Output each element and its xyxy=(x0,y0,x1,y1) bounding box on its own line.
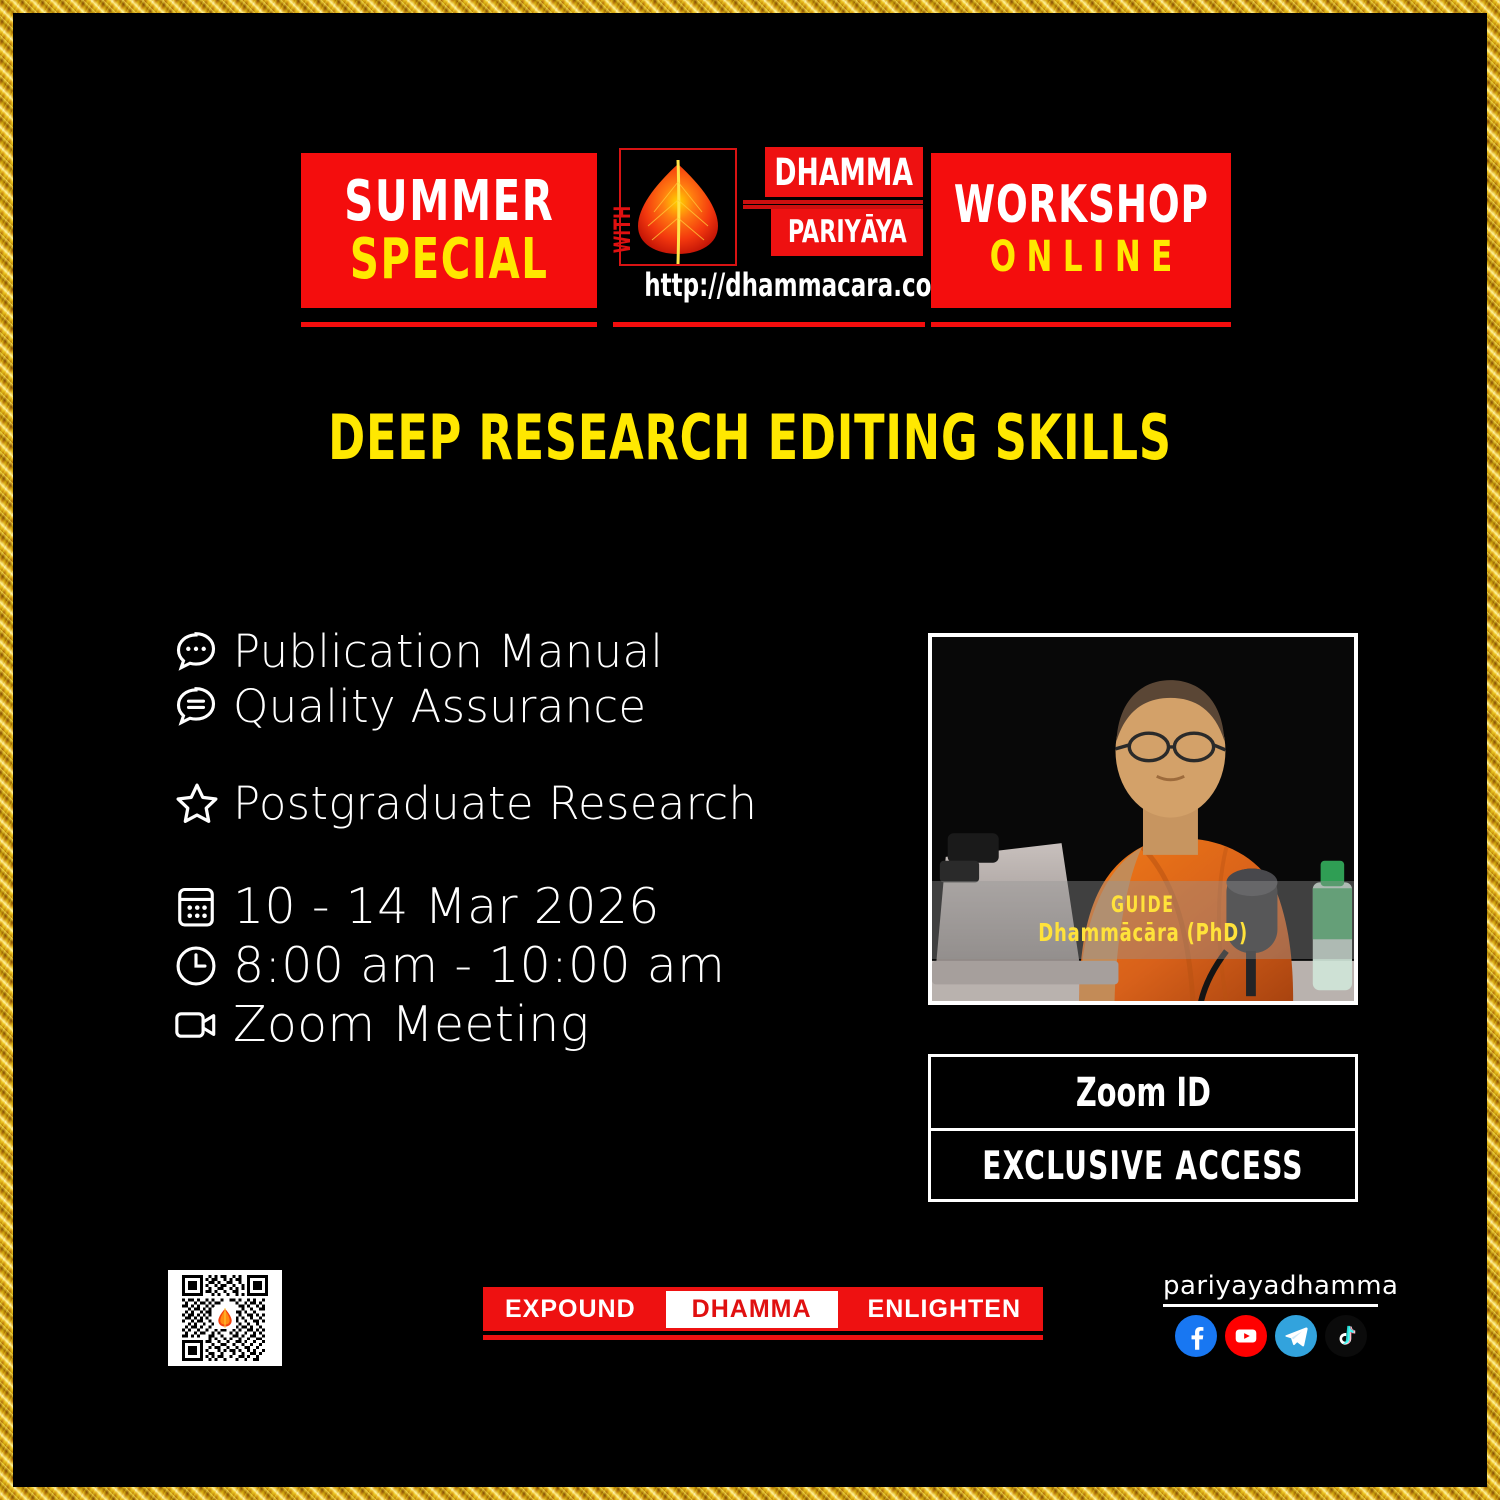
speaker-name: Dhammācāra (PhD) xyxy=(1038,918,1248,947)
social-block: pariyayadhamma xyxy=(1163,1271,1378,1357)
with-label: WITH xyxy=(612,205,637,252)
social-handle: pariyayadhamma xyxy=(1163,1271,1378,1301)
detail-label: 10 - 14 Mar 2026 xyxy=(233,878,660,935)
detail-item-platform: Zoom Meeting xyxy=(171,996,871,1053)
leaf-svg xyxy=(632,156,724,266)
special-label: SPECIAL xyxy=(350,231,549,288)
pariyaya-label: PARIYĀYA xyxy=(788,214,907,250)
online-label: ONLINE xyxy=(979,233,1182,282)
header-rule-right xyxy=(931,322,1231,327)
exclusive-access-label: EXCLUSIVE ACCESS xyxy=(982,1144,1304,1189)
feature-item-quality-assurance: Quality Assurance xyxy=(171,680,871,733)
header-rule-center xyxy=(613,322,925,327)
website-url[interactable]: http://dhammacara.com/ xyxy=(644,266,894,304)
leaf-icon xyxy=(214,1307,236,1329)
video-camera-icon xyxy=(171,1000,233,1050)
star-outline-icon xyxy=(171,778,233,830)
speaker-role: GUIDE xyxy=(1111,893,1175,918)
speech-bubble-lines-icon xyxy=(171,682,233,732)
tagline-rule xyxy=(483,1335,1043,1340)
summer-label: SUMMER xyxy=(344,173,554,230)
with-connector: WITH xyxy=(611,198,637,260)
clock-icon xyxy=(171,941,233,991)
social-divider xyxy=(1163,1304,1378,1307)
brand-logo: DHAMMA PARIYĀYA WITH http://dhammacara.c… xyxy=(613,146,925,318)
detail-item-dates: 10 - 14 Mar 2026 xyxy=(171,878,871,935)
youtube-icon[interactable] xyxy=(1225,1315,1267,1357)
workshop-label: WORKSHOP xyxy=(954,178,1209,233)
qr-canvas xyxy=(173,1275,277,1361)
header: SUMMER SPECIAL xyxy=(13,130,1487,330)
feature-list: Publication Manual Quality Assurance Pos… xyxy=(171,625,871,1055)
zoom-id-row: Zoom ID xyxy=(931,1057,1355,1131)
zoom-id-label: Zoom ID xyxy=(1075,1070,1210,1116)
summer-special-badge: SUMMER SPECIAL xyxy=(301,153,597,308)
poster: SUMMER SPECIAL xyxy=(0,0,1500,1500)
gold-border: SUMMER SPECIAL xyxy=(0,0,1500,1500)
poster-inner: SUMMER SPECIAL xyxy=(13,13,1487,1487)
pariyaya-bar: PARIYĀYA xyxy=(771,208,923,256)
speech-bubble-dots-icon xyxy=(171,627,233,677)
speaker-photo: GUIDE Dhammācāra (PhD) xyxy=(928,633,1358,1005)
tiktok-icon[interactable] xyxy=(1325,1315,1367,1357)
tagline-right: ENLIGHTEN xyxy=(868,1295,1021,1324)
detail-item-time: 8:00 am - 10:00 am xyxy=(171,937,871,994)
logo-separator-line xyxy=(743,205,923,209)
details-spacer xyxy=(171,832,871,878)
dhamma-label: DHAMMA xyxy=(775,151,914,194)
feature-label: Publication Manual xyxy=(233,625,663,678)
detail-label: 8:00 am - 10:00 am xyxy=(233,937,725,994)
page-title: DEEP RESEARCH EDITING SKILLS xyxy=(160,401,1339,474)
workshop-online-badge: WORKSHOP ONLINE xyxy=(931,153,1231,308)
tagline-left: EXPOUND xyxy=(505,1295,636,1324)
feature-item-postgraduate-research: Postgraduate Research xyxy=(171,777,871,830)
tagline-center: DHAMMA xyxy=(666,1291,838,1328)
feature-label: Postgraduate Research xyxy=(233,777,757,830)
feature-spacer xyxy=(171,735,871,777)
detail-label: Zoom Meeting xyxy=(233,996,589,1053)
feature-label: Quality Assurance xyxy=(233,680,646,733)
facebook-icon[interactable] xyxy=(1175,1315,1217,1357)
header-rule-left xyxy=(301,322,597,327)
feature-item-publication-manual: Publication Manual xyxy=(171,625,871,678)
logo-top: DHAMMA PARIYĀYA WITH xyxy=(613,146,925,268)
exclusive-access-row: EXCLUSIVE ACCESS xyxy=(931,1131,1355,1202)
tagline-banner: EXPOUND DHAMMA ENLIGHTEN xyxy=(483,1287,1043,1331)
zoom-id-box[interactable]: Zoom ID EXCLUSIVE ACCESS xyxy=(928,1054,1358,1202)
qr-code-icon[interactable] xyxy=(168,1270,282,1366)
calendar-icon xyxy=(171,882,233,932)
speaker-caption: GUIDE Dhammācāra (PhD) xyxy=(932,881,1354,959)
telegram-icon[interactable] xyxy=(1275,1315,1317,1357)
logo-separator-line xyxy=(743,200,923,204)
dhamma-bar: DHAMMA xyxy=(765,147,923,197)
social-icon-row xyxy=(1163,1315,1378,1357)
